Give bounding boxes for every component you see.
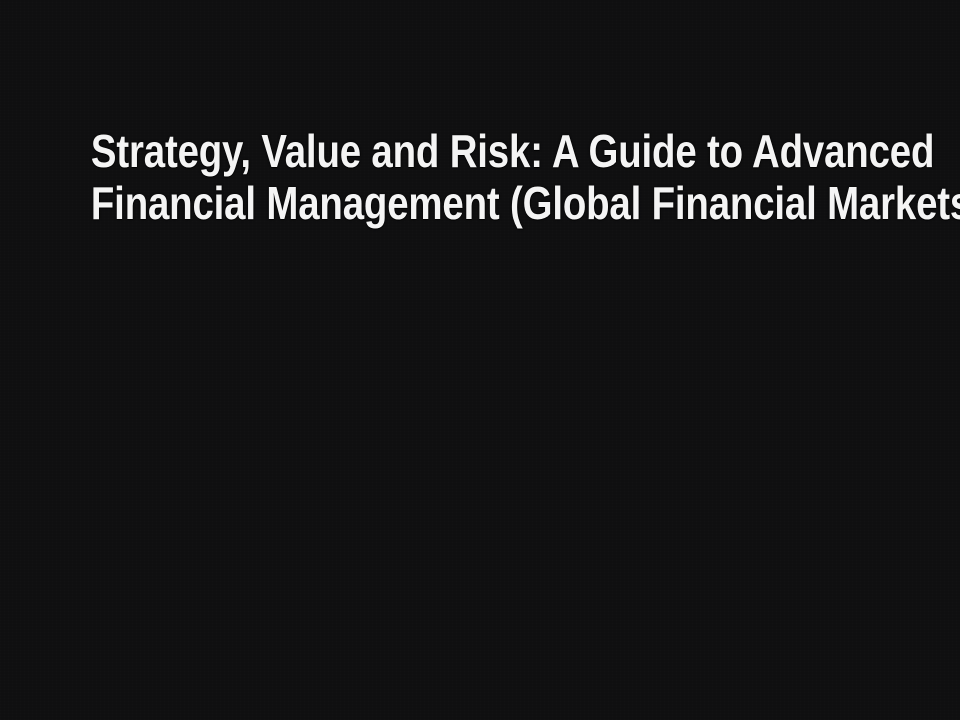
book-title: Strategy, Value and Risk: A Guide to Adv… <box>0 124 960 230</box>
book-title-line-2: Financial Management (Global Financial M… <box>91 176 869 230</box>
book-title-line-1: Strategy, Value and Risk: A Guide to Adv… <box>91 124 869 178</box>
empty-cover-area <box>0 240 960 720</box>
book-cover-canvas: Strategy, Value and Risk: A Guide to Adv… <box>0 0 960 720</box>
